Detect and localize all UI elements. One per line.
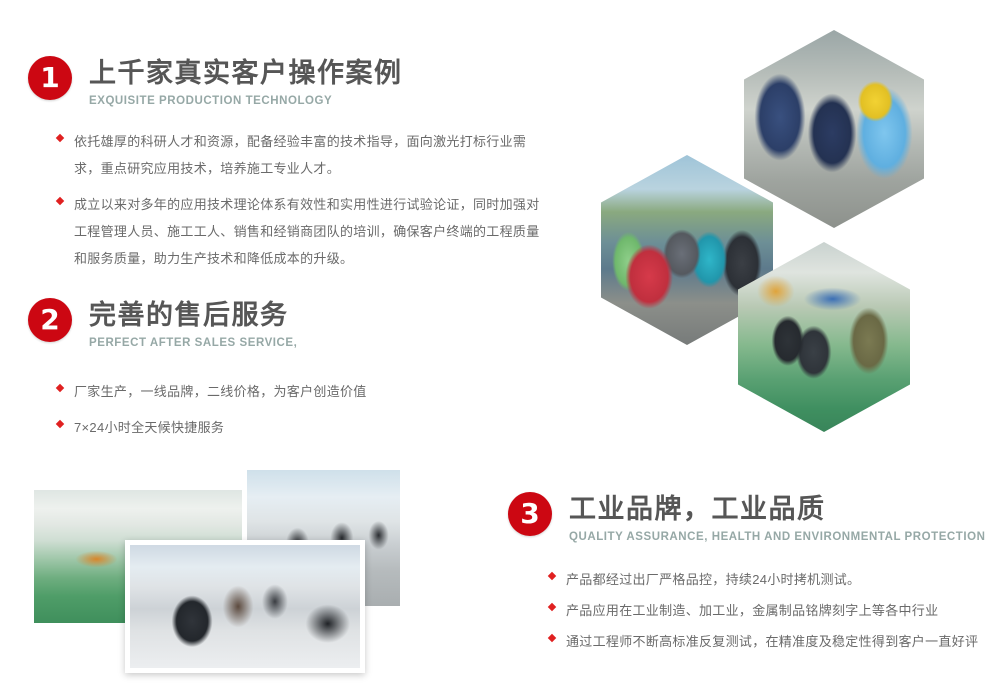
- section-3-title-en: QUALITY ASSURANCE, HEALTH AND ENVIRONMEN…: [569, 531, 985, 543]
- diamond-bullet-icon: [56, 384, 64, 392]
- bullet-text: 成立以来对多年的应用技术理论体系有效性和实用性进行试验论证，同时加强对工程管理人…: [74, 191, 542, 272]
- diamond-bullet-icon: [548, 603, 556, 611]
- diamond-bullet-icon: [56, 197, 64, 205]
- section-1-title-en: EXQUISITE PRODUCTION TECHNOLOGY: [89, 95, 403, 107]
- feature-page: 1 上千家真实客户操作案例 EXQUISITE PRODUCTION TECHN…: [0, 0, 1003, 684]
- list-item: 7×24小时全天候快捷服务: [57, 414, 527, 441]
- section-2-titles: 完善的售后服务 PERFECT AFTER SALES SERVICE,: [89, 298, 297, 349]
- section-1-header: 1 上千家真实客户操作案例 EXQUISITE PRODUCTION TECHN…: [28, 56, 403, 107]
- diamond-bullet-icon: [56, 420, 64, 428]
- section-3-number-badge: 3: [508, 492, 552, 536]
- section-2-title-en: PERFECT AFTER SALES SERVICE,: [89, 337, 297, 349]
- section-3-bullets: 产品都经过出厂严格品控，持续24小时拷机测试。 产品应用在工业制造、加工业，金属…: [549, 566, 989, 655]
- list-item: 依托雄厚的科研人才和资源，配备经验丰富的技术指导，面向激光打标行业需求，重点研究…: [57, 128, 542, 182]
- photo-call-center: [125, 540, 365, 673]
- section-1-title-cn: 上千家真实客户操作案例: [89, 57, 403, 89]
- hex-photo-technicians: [744, 30, 924, 228]
- list-item: 产品都经过出厂严格品控，持续24小时拷机测试。: [549, 566, 989, 593]
- diamond-bullet-icon: [548, 572, 556, 580]
- list-item: 通过工程师不断高标准反复测试，在精准度及稳定性得到客户一直好评: [549, 628, 989, 655]
- bullet-text: 依托雄厚的科研人才和资源，配备经验丰富的技术指导，面向激光打标行业需求，重点研究…: [74, 128, 542, 182]
- bullet-text: 产品都经过出厂严格品控，持续24小时拷机测试。: [566, 566, 860, 593]
- section-3-titles: 工业品牌，工业品质 QUALITY ASSURANCE, HEALTH AND …: [569, 492, 985, 543]
- section-2-bullets: 厂家生产，一线品牌，二线价格，为客户创造价值 7×24小时全天候快捷服务: [57, 378, 527, 450]
- list-item: 产品应用在工业制造、加工业，金属制品铭牌刻字上等各中行业: [549, 597, 989, 624]
- section-1-number-badge: 1: [28, 56, 72, 100]
- section-2-number-badge: 2: [28, 298, 72, 342]
- diamond-bullet-icon: [548, 634, 556, 642]
- bullet-text: 7×24小时全天候快捷服务: [74, 414, 224, 441]
- bullet-text: 厂家生产，一线品牌，二线价格，为客户创造价值: [74, 378, 367, 405]
- section-1-titles: 上千家真实客户操作案例 EXQUISITE PRODUCTION TECHNOL…: [89, 56, 403, 107]
- section-3-header: 3 工业品牌，工业品质 QUALITY ASSURANCE, HEALTH AN…: [508, 492, 985, 543]
- list-item: 成立以来对多年的应用技术理论体系有效性和实用性进行试验论证，同时加强对工程管理人…: [57, 191, 542, 272]
- list-item: 厂家生产，一线品牌，二线价格，为客户创造价值: [57, 378, 527, 405]
- section-2-header: 2 完善的售后服务 PERFECT AFTER SALES SERVICE,: [28, 298, 297, 349]
- photo-image: [744, 30, 924, 228]
- bullet-text: 产品应用在工业制造、加工业，金属制品铭牌刻字上等各中行业: [566, 597, 938, 624]
- bullet-text: 通过工程师不断高标准反复测试，在精准度及稳定性得到客户一直好评: [566, 628, 978, 655]
- section-2-title-cn: 完善的售后服务: [89, 299, 297, 331]
- section-1-bullets: 依托雄厚的科研人才和资源，配备经验丰富的技术指导，面向激光打标行业需求，重点研究…: [57, 128, 542, 281]
- diamond-bullet-icon: [56, 134, 64, 142]
- section-3-title-cn: 工业品牌，工业品质: [569, 493, 985, 525]
